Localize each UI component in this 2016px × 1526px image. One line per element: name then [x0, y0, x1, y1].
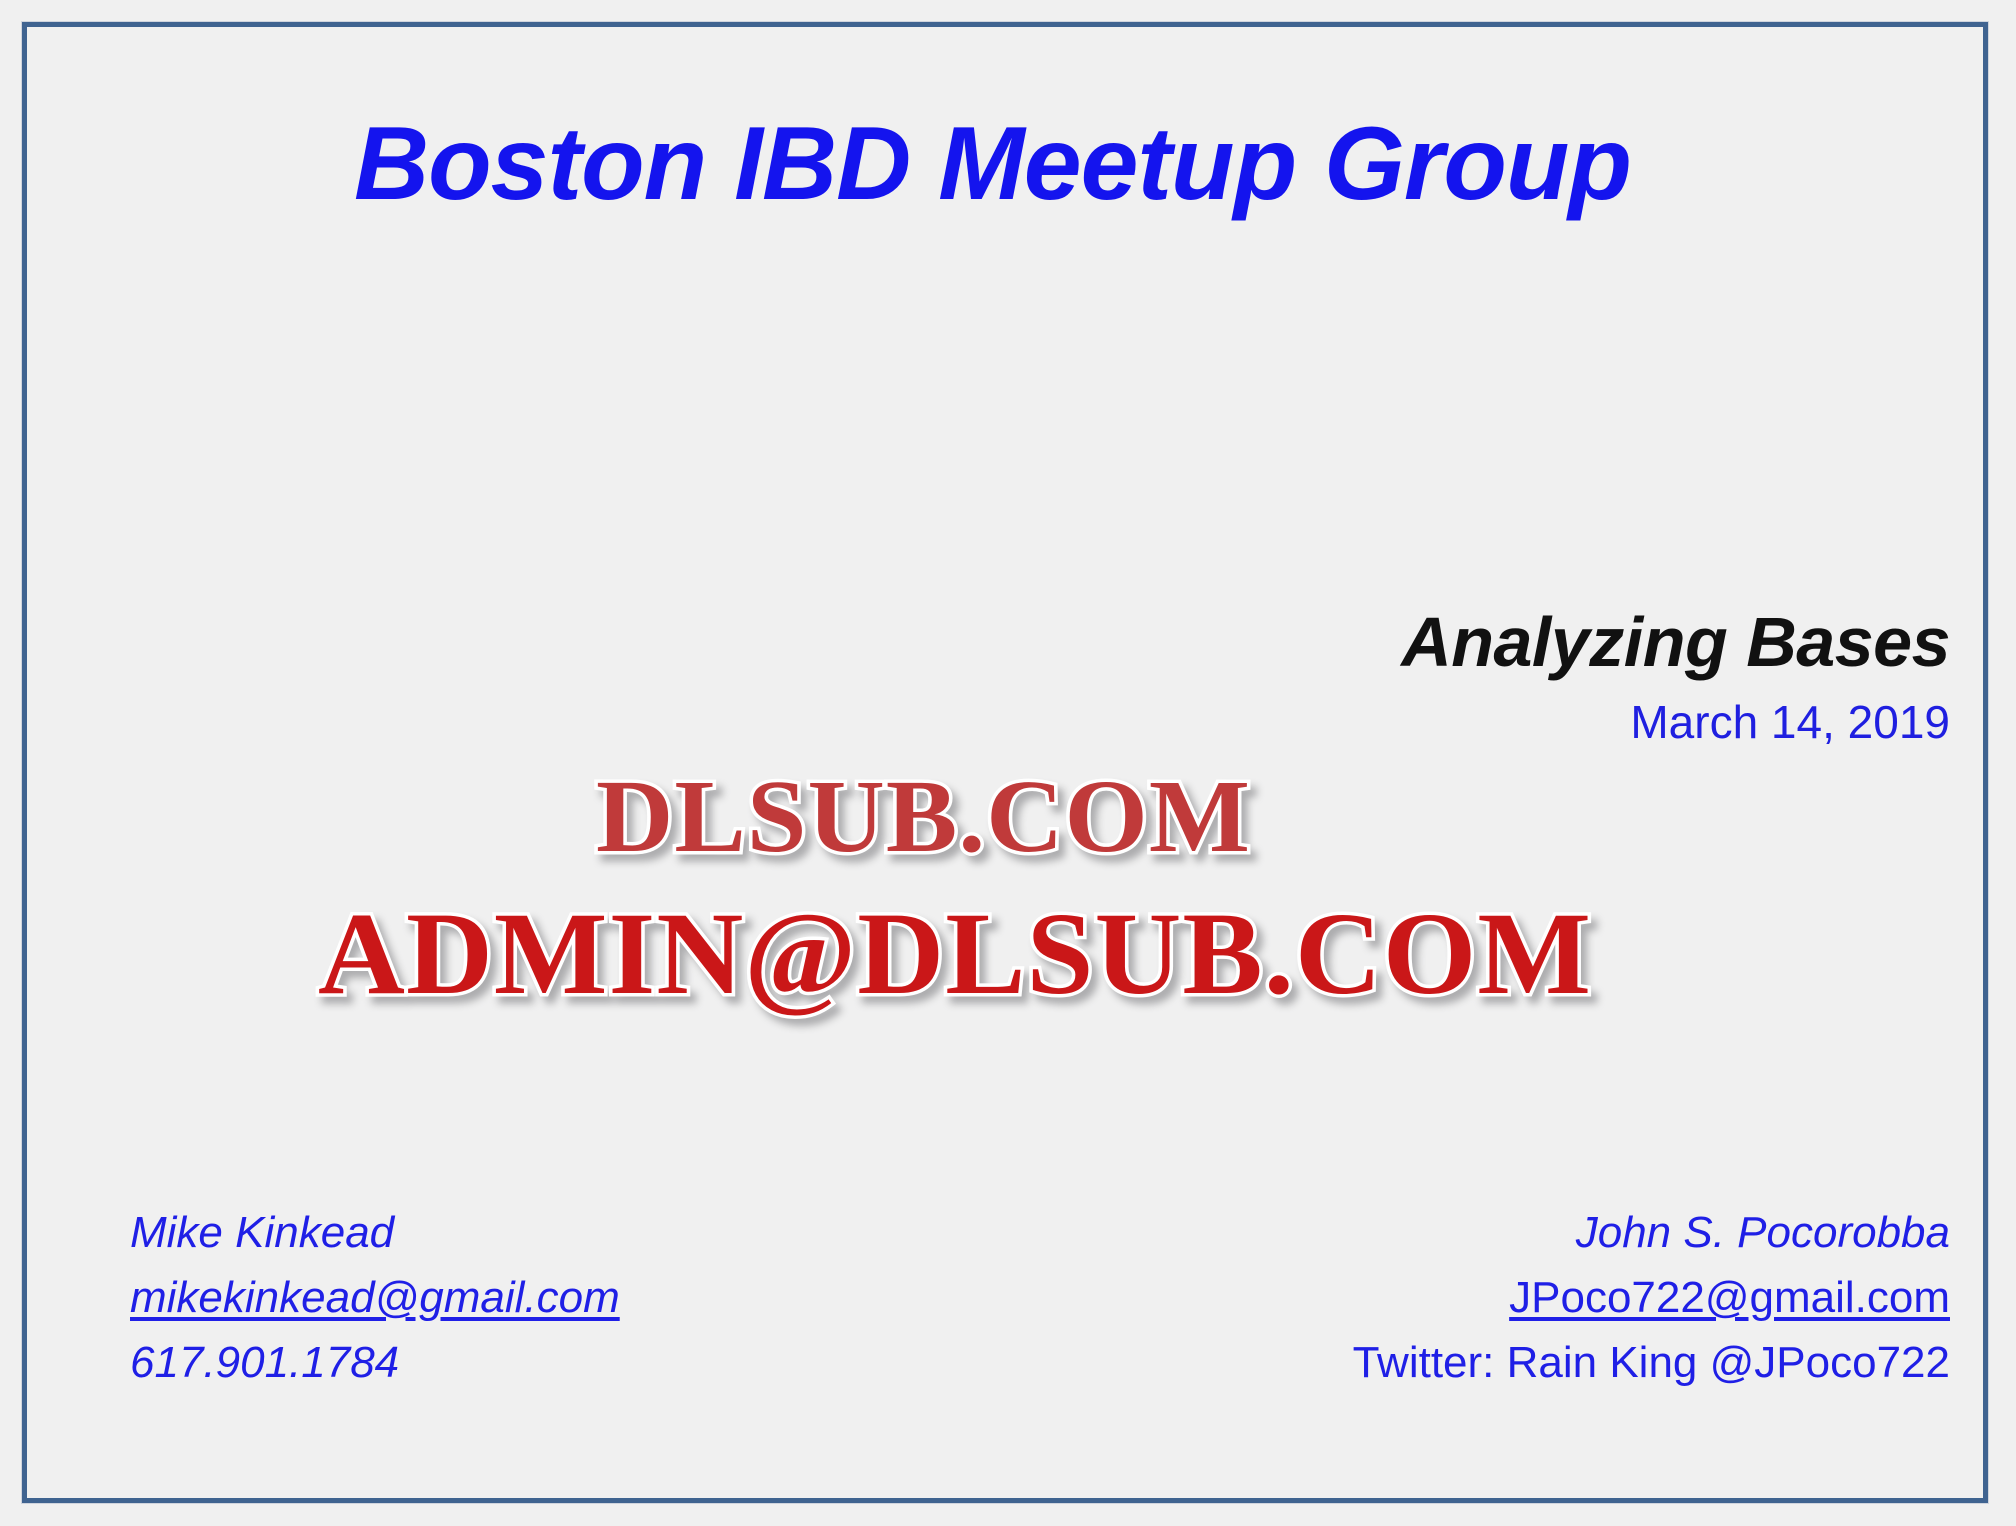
- presentation-date: March 14, 2019: [750, 697, 1950, 748]
- contact-left-phone: 617.901.1784: [130, 1330, 620, 1395]
- subtitle-block: Analyzing Bases March 14, 2019: [750, 605, 1950, 747]
- contact-right-email-link[interactable]: JPoco722@gmail.com: [1353, 1265, 1950, 1330]
- contact-block-left: Mike Kinkead mikekinkead@gmail.com 617.9…: [130, 1200, 620, 1395]
- contact-right-name: John S. Pocorobba: [1353, 1200, 1950, 1265]
- slide-canvas: Boston IBD Meetup Group Analyzing Bases …: [0, 0, 2016, 1526]
- contact-left-email-link[interactable]: mikekinkead@gmail.com: [130, 1265, 620, 1330]
- presentation-subtitle: Analyzing Bases: [750, 605, 1950, 681]
- page-title: Boston IBD Meetup Group: [0, 106, 1985, 222]
- watermark-email-text: ADMIN@DLSUB.COM: [318, 886, 1592, 1022]
- contact-left-name: Mike Kinkead: [130, 1200, 620, 1265]
- watermark-site-text: DLSUB.COM: [596, 757, 1251, 876]
- contact-block-right: John S. Pocorobba JPoco722@gmail.com Twi…: [1353, 1200, 1950, 1395]
- contact-right-twitter: Twitter: Rain King @JPoco722: [1353, 1330, 1950, 1395]
